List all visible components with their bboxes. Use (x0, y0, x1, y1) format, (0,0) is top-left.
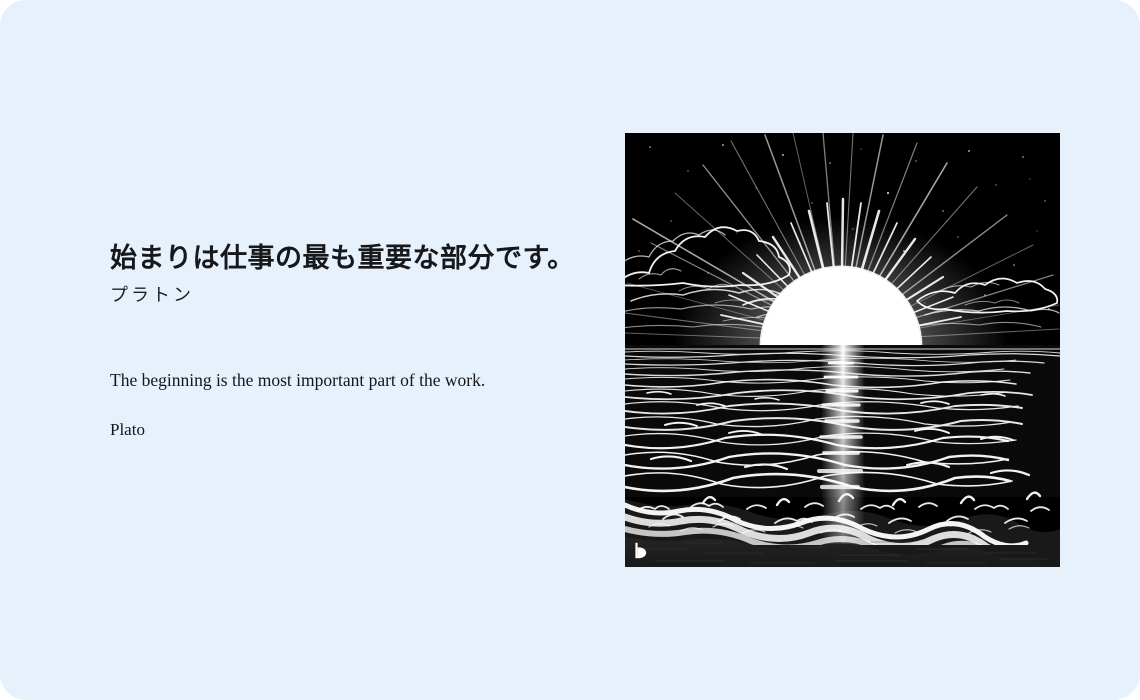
artwork-image (625, 133, 1060, 567)
sunrise-scratchboard-illustration (625, 133, 1060, 567)
card-content: 始まりは仕事の最も重要な部分です。 プラトン The beginning is … (0, 0, 1140, 700)
quote-japanese-text: 始まりは仕事の最も重要な部分です。 (110, 240, 580, 276)
quote-text-block: 始まりは仕事の最も重要な部分です。 プラトン The beginning is … (110, 240, 580, 442)
quote-english-author: Plato (110, 417, 580, 443)
quote-card: 始まりは仕事の最も重要な部分です。 プラトン The beginning is … (0, 0, 1140, 700)
quote-japanese-author: プラトン (110, 282, 580, 309)
quote-english-text: The beginning is the most important part… (110, 367, 580, 393)
